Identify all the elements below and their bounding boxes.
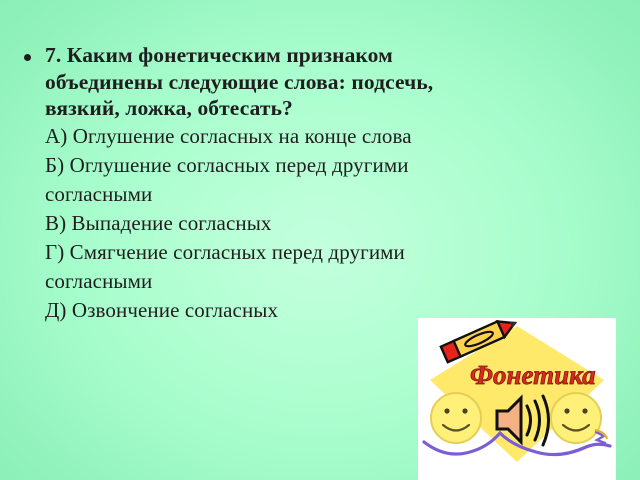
smiley-right-icon [551,393,607,443]
answer-option-g: Г) Смягчение согласных перед другими [45,238,616,267]
answer-option-g-cont: согласными [45,267,616,296]
question-line-3: вязкий, ложка, обтесать? [45,95,616,122]
phonetics-illustration: Фонетика [418,318,616,480]
bulleted-paragraph: 7. Каким фонетическим признаком объедине… [24,42,616,325]
bullet-point-icon [24,42,45,61]
question-content-block: 7. Каким фонетическим признаком объедине… [24,42,616,325]
slide-canvas: 7. Каким фонетическим признаком объедине… [0,0,640,480]
answer-option-v: В) Выпадение согласных [45,209,616,238]
smiley-left-icon [431,393,481,443]
phonetics-caption: Фонетика [470,360,596,390]
question-text-body: 7. Каким фонетическим признаком объедине… [45,42,616,325]
answer-option-b-cont: согласными [45,180,616,209]
answer-option-a: А) Оглушение согласных на конце слова [45,122,616,151]
question-line-1: 7. Каким фонетическим признаком [45,42,616,69]
answer-option-b: Б) Оглушение согласных перед другими [45,151,616,180]
question-line-2: объединены следующие слова: подсечь, [45,69,616,96]
